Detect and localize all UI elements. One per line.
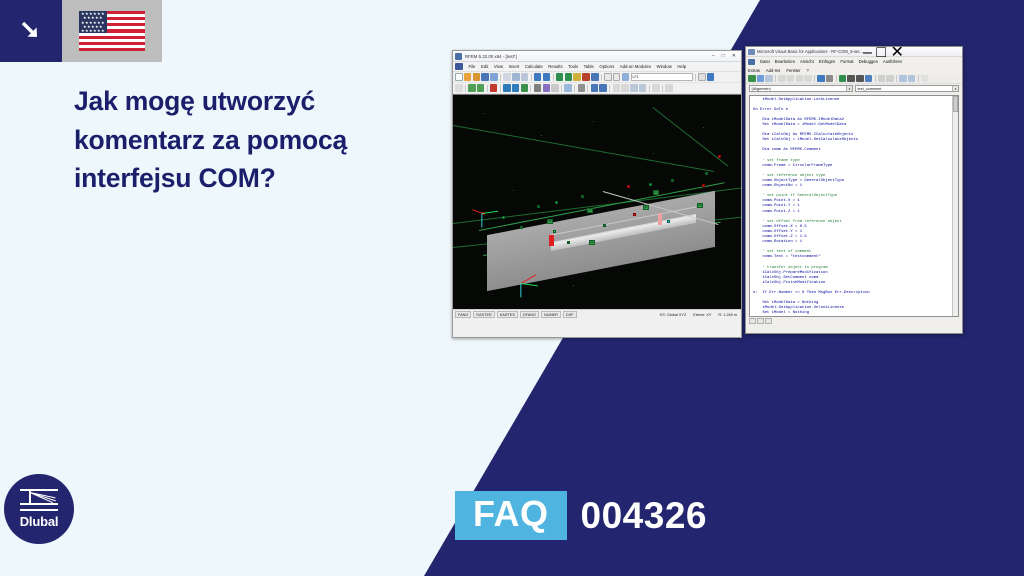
faq-badge: FAQ (455, 491, 567, 540)
minimize-icon[interactable]: – (712, 53, 715, 59)
node-marker[interactable] (567, 241, 570, 244)
solid-icon[interactable] (521, 84, 529, 92)
rfem-app-icon (455, 53, 462, 60)
redo-icon[interactable] (543, 73, 551, 81)
menu-item-window[interactable]: Window (657, 64, 672, 69)
model-label: 06 (697, 203, 703, 208)
settings-icon[interactable] (652, 84, 660, 92)
menu-item-ansicht[interactable]: Ansicht (800, 59, 814, 64)
node-marker[interactable] (702, 184, 705, 187)
menu-item-fenster[interactable]: Fenster (786, 68, 800, 73)
pan-icon[interactable] (573, 73, 581, 81)
find-icon[interactable] (804, 75, 812, 83)
status-tab-numer[interactable]: NUMER (541, 311, 561, 318)
project-explorer-icon[interactable] (878, 75, 886, 83)
menu-item-calculate[interactable]: Calculate (525, 64, 543, 69)
minimize-icon[interactable]: – (863, 44, 872, 61)
node-icon[interactable] (490, 84, 498, 92)
node-marker[interactable] (555, 201, 558, 204)
status-tab-raster[interactable]: RASTER (473, 311, 494, 318)
rfem-toolbar-row-1[interactable]: LF1 (453, 72, 741, 83)
load-case-select[interactable]: LF1 (631, 73, 693, 81)
insert-userform-icon[interactable] (757, 75, 765, 83)
node-marker[interactable] (603, 224, 606, 227)
properties-window-icon[interactable] (886, 75, 894, 83)
node-marker[interactable] (671, 179, 674, 182)
node-marker[interactable] (502, 216, 505, 219)
node-marker[interactable] (627, 185, 630, 188)
break-icon[interactable] (847, 75, 855, 83)
vba-menu-bar-row-1[interactable]: Datei Bearbeiten Ansicht Einfügen Format… (746, 57, 962, 66)
vba-title-bar: Microsoft Visual Basic for Applications … (746, 47, 962, 57)
node-marker[interactable] (649, 183, 652, 186)
node-marker[interactable] (581, 195, 584, 198)
cut-icon[interactable] (778, 75, 786, 83)
faq-footer: FAQ 004326 (455, 491, 707, 540)
info-icon[interactable] (707, 73, 715, 81)
vba-menu-bar-row-2[interactable]: Extras Add-Ins Fenster ? (746, 66, 962, 74)
node-marker[interactable] (633, 213, 636, 216)
menu-item-addins[interactable]: Add-Ins (766, 68, 780, 73)
view-top-icon[interactable] (630, 84, 638, 92)
new-file-icon[interactable] (455, 73, 463, 81)
vba-code-selectors[interactable]: (Allgemein) ▾ test_comment ▾ (746, 84, 962, 93)
view-iso-icon[interactable] (621, 84, 629, 92)
menu-item-results[interactable]: Results (548, 64, 562, 69)
results-icon[interactable] (599, 84, 607, 92)
menu-item-help[interactable]: Help (677, 64, 686, 69)
chevron-down-icon[interactable]: ▾ (952, 86, 958, 91)
menu-item-addon-modules[interactable]: Add-on Modules (620, 64, 651, 69)
cut-icon[interactable] (512, 73, 520, 81)
view-front-icon[interactable] (613, 84, 621, 92)
vba-project-icon[interactable] (748, 59, 755, 65)
reset-icon[interactable] (856, 75, 864, 83)
arrow-down-right-icon (18, 18, 44, 44)
menu-item-debuggen[interactable]: Debuggen (859, 59, 878, 64)
menu-item-ausfuehren[interactable]: Ausführen (883, 59, 902, 64)
print-icon[interactable] (490, 73, 498, 81)
layers-icon[interactable] (613, 73, 621, 81)
code-horizontal-scrollbar[interactable] (749, 318, 959, 325)
us-flag-icon: ★★★★★★★★★★★★★★★★★★★★★★★★★★★★ (79, 11, 145, 51)
save-icon[interactable] (765, 75, 773, 83)
full-module-view-icon[interactable] (757, 318, 764, 324)
rfem-window-controls[interactable]: – □ ✕ (712, 53, 739, 59)
model-label: 01 (587, 208, 593, 213)
model-label: 03 (653, 190, 659, 195)
rfem-status-bar[interactable]: FANG RASTER KARTES DFANG NUMER DXF KS: G… (453, 309, 741, 319)
open-folder-icon[interactable] (464, 73, 472, 81)
open-recent-icon[interactable] (473, 73, 481, 81)
mesh-icon[interactable] (578, 84, 586, 92)
dlubal-logo-text: Dlubal (20, 514, 59, 529)
display-icon[interactable] (698, 73, 706, 81)
scrollbar-thumb[interactable] (953, 96, 958, 112)
load-icon[interactable] (543, 84, 551, 92)
rotate-icon[interactable] (582, 73, 590, 81)
scrollbar-thumb[interactable] (765, 318, 772, 324)
slide-canvas: ★★★★★★★★★★★★★★★★★★★★★★★★★★★★ Jak mogę ut… (0, 0, 1024, 576)
run-icon[interactable] (839, 75, 847, 83)
menu-item-bearbeiten[interactable]: Bearbeiten (775, 59, 795, 64)
save-icon[interactable] (481, 73, 489, 81)
status-tab-kartes[interactable]: KARTES (497, 311, 518, 318)
node-marker[interactable] (705, 172, 708, 175)
rfem-menu-bar[interactable]: File Edit View Insert Calculate Results … (453, 62, 741, 72)
support-block[interactable] (658, 213, 662, 225)
page-title: Jak mogę utworzyć komentarz za pomocą in… (74, 82, 414, 198)
maximize-icon[interactable]: □ (722, 53, 725, 59)
language-flag-badge: ★★★★★★★★★★★★★★★★★★★★★★★★★★★★ (62, 0, 162, 62)
object-select-value: (Allgemein) (752, 87, 771, 91)
menu-item-einfuegen[interactable]: Einfügen (819, 59, 836, 64)
rfem-toolbar-row-2[interactable] (453, 83, 741, 94)
table-icon[interactable] (455, 63, 463, 70)
object-select[interactable]: (Allgemein) ▾ (749, 85, 853, 92)
model-label: 02 (643, 205, 649, 210)
menu-item-extras[interactable]: Extras (748, 68, 760, 73)
copy-icon[interactable] (521, 73, 529, 81)
chevron-down-icon[interactable]: ▾ (846, 86, 852, 91)
toolbox-icon[interactable] (908, 75, 916, 83)
menu-item-help[interactable]: ? (807, 68, 809, 73)
rfem-3d-viewport[interactable]: 01 02 03 04 05 06 (453, 94, 741, 309)
dlubal-logo: Dlubal (4, 474, 74, 544)
preview-icon[interactable] (503, 73, 511, 81)
menu-item-insert[interactable]: Insert (509, 64, 520, 69)
node-marker[interactable] (718, 155, 721, 158)
maximize-icon[interactable]: □ (876, 44, 886, 61)
help-pointer-icon[interactable] (665, 84, 673, 92)
zoom-window-icon[interactable] (556, 73, 564, 81)
redo-icon[interactable] (826, 75, 834, 83)
node-marker[interactable] (553, 230, 556, 233)
zoom-all-icon[interactable] (565, 73, 573, 81)
status-grid-spacing: R: 1.245 m (718, 313, 737, 317)
design-mode-icon[interactable] (865, 75, 873, 83)
surface-icon[interactable] (512, 84, 520, 92)
arrow-down-right-badge (0, 0, 62, 62)
draw-line-icon[interactable] (468, 84, 476, 92)
loadcase-icon[interactable] (622, 73, 630, 81)
undo-icon[interactable] (817, 75, 825, 83)
model-label: 04 (589, 240, 595, 245)
vba-code-editor[interactable]: iModel.GetApplication.LockLicense On Err… (749, 95, 959, 317)
object-browser-icon[interactable] (899, 75, 907, 83)
view-excel-icon[interactable] (748, 75, 756, 83)
vba-toolbar[interactable] (746, 74, 962, 84)
menu-item-datei[interactable]: Datei (760, 59, 770, 64)
menu-item-view[interactable]: View (494, 64, 503, 69)
paste-icon[interactable] (796, 75, 804, 83)
status-work-plane: Ebene: XY (693, 313, 711, 317)
undo-icon[interactable] (534, 73, 542, 81)
menu-item-table[interactable]: Table (584, 64, 594, 69)
node-marker[interactable] (537, 205, 540, 208)
rfem-application-window[interactable]: RFEM 5.22.00 x64 - [test*] – □ ✕ File Ed… (452, 50, 742, 338)
dlubal-truss-icon (20, 489, 58, 512)
node-marker[interactable] (520, 226, 523, 229)
status-tab-dfang[interactable]: DFANG (520, 311, 539, 318)
code-vertical-scrollbar[interactable] (952, 96, 958, 316)
menu-item-file[interactable]: File (469, 64, 476, 69)
procedure-view-icon[interactable] (749, 318, 756, 324)
vba-editor-window[interactable]: Microsoft Visual Basic for Applications … (745, 46, 963, 334)
vba-window-title: Microsoft Visual Basic for Applications … (757, 49, 863, 54)
close-icon[interactable]: ✕ (732, 53, 736, 59)
comment-icon[interactable] (564, 84, 572, 92)
dimension-icon[interactable] (551, 84, 559, 92)
draw-polyline-icon[interactable] (477, 84, 485, 92)
rfem-title-bar: RFEM 5.22.00 x64 - [test*] – □ ✕ (453, 51, 741, 62)
support-icon[interactable] (534, 84, 542, 92)
support-block[interactable] (549, 235, 554, 246)
status-tab-fang[interactable]: FANG (455, 311, 471, 318)
render-icon[interactable] (591, 73, 599, 81)
procedure-select-value: test_comment (858, 87, 882, 91)
vba-app-icon (748, 49, 755, 55)
model-label: 05 (547, 219, 553, 224)
rfem-window-title: RFEM 5.22.00 x64 - [test*] (465, 54, 517, 59)
select-icon[interactable] (455, 84, 463, 92)
view-side-icon[interactable] (639, 84, 647, 92)
menu-item-options[interactable]: Options (599, 64, 614, 69)
vba-code-text: iModel.GetApplication.LockLicense On Err… (753, 98, 955, 317)
status-tab-dxf[interactable]: DXF (563, 311, 577, 318)
status-coordinate-system: KS: Global XYZ (660, 313, 687, 317)
menu-item-edit[interactable]: Edit (481, 64, 488, 69)
faq-number: 004326 (581, 495, 707, 537)
procedure-select[interactable]: test_comment ▾ (855, 85, 959, 92)
menu-item-format[interactable]: Format (840, 59, 853, 64)
close-icon[interactable]: ✕ (891, 44, 904, 61)
copy-icon[interactable] (787, 75, 795, 83)
grid-icon[interactable] (604, 73, 612, 81)
help-icon[interactable] (921, 75, 929, 83)
node-marker[interactable] (667, 220, 670, 223)
menu-item-tools[interactable]: Tools (568, 64, 578, 69)
member-icon[interactable] (503, 84, 511, 92)
calculate-icon[interactable] (591, 84, 599, 92)
